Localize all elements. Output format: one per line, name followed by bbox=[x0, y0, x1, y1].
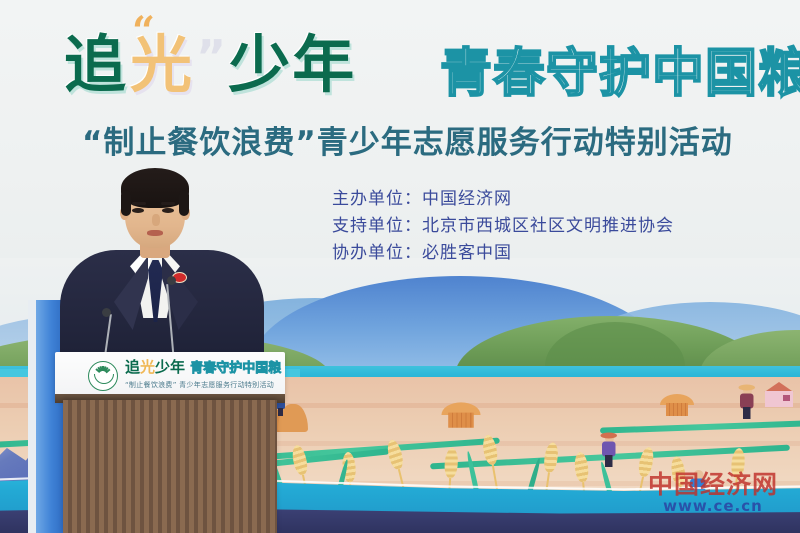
eye-left bbox=[132, 208, 144, 213]
farmer-figure bbox=[740, 386, 754, 419]
organizer-supporter: 支持单位：北京市西城区社区文明推进协会 bbox=[332, 213, 674, 240]
podium-front-panel: 追光少年 青春守护中国粮 “制止餐饮浪费” 青少年志愿服务行动特别活动 bbox=[55, 352, 285, 400]
organizer-list: 主办单位：中国经济网 支持单位：北京市西城区社区文明推进协会 协办单位：必胜客中… bbox=[332, 186, 674, 267]
haystack bbox=[664, 394, 690, 416]
eyebrow-right bbox=[161, 202, 175, 205]
hair-side-right bbox=[179, 190, 189, 216]
mouth bbox=[147, 230, 163, 236]
podium-wood-base bbox=[63, 400, 277, 533]
closing-quote-mark: ” bbox=[196, 30, 228, 84]
podium-title-teal: 青春守护中国粮 bbox=[190, 361, 281, 376]
hair-side-left bbox=[121, 190, 131, 216]
headline-part1: 追 bbox=[64, 28, 128, 101]
speaking-podium: 追光少年 青春守护中国粮 “制止餐饮浪费” 青少年志愿服务行动特别活动 bbox=[55, 352, 285, 533]
organizer-host: 主办单位：中国经济网 bbox=[332, 186, 674, 213]
podium-title: 追光少年 青春守护中国粮 bbox=[125, 360, 281, 375]
headline-highlight-guang: 光 bbox=[128, 28, 196, 101]
haystack bbox=[446, 402, 476, 427]
china-economic-net-emblem-icon bbox=[88, 361, 118, 391]
organizer-coorganizer: 协办单位：必胜客中国 bbox=[332, 240, 674, 267]
banner-subtitle: “制止餐饮浪费”青少年志愿服务行动特别活动 bbox=[82, 128, 733, 159]
eyebrow-left bbox=[132, 202, 146, 205]
headline-part2: 少年 bbox=[228, 28, 356, 101]
farmer-figure bbox=[602, 434, 616, 467]
banner-headline-secondary: 青春守护中国粮 bbox=[440, 48, 800, 100]
podium-subtitle: “制止餐饮浪费” 青少年志愿服务行动特别活动 bbox=[125, 380, 274, 390]
eye-right bbox=[162, 208, 174, 213]
watermark-url: www.ce.cn bbox=[648, 499, 778, 514]
speaker-person bbox=[62, 164, 262, 369]
banner-headline: 追光”少年 bbox=[64, 34, 356, 96]
nose bbox=[152, 214, 160, 226]
podium-title-highlight: 光 bbox=[140, 358, 155, 376]
screenshot-root: “ 追光”少年 青春守护中国粮 “制止餐饮浪费”青少年志愿服务行动特别活动 主办… bbox=[0, 0, 800, 533]
watermark-site-name: 中国经济网 bbox=[648, 472, 778, 497]
podium-title-part2: 少年 bbox=[155, 358, 185, 376]
podium-title-part1: 追 bbox=[125, 358, 140, 376]
watermark: 中国经济网 www.ce.cn bbox=[648, 472, 778, 514]
